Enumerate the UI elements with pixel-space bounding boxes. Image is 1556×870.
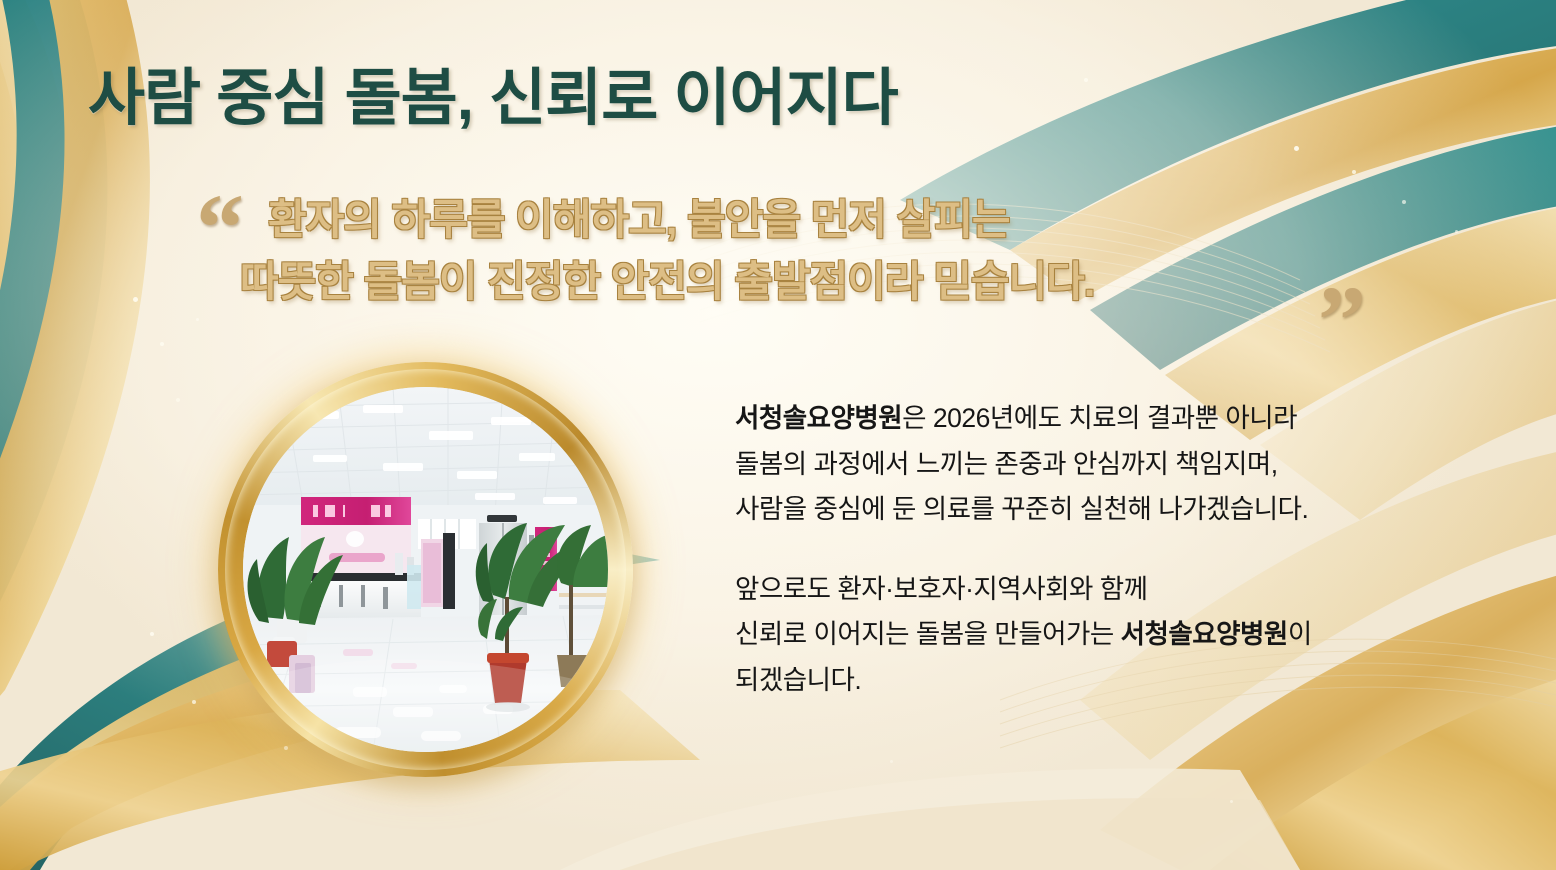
hospital-name-strong: 서청솔요양병원 <box>735 403 902 433</box>
promotional-banner: 사람 중심 돌봄, 신뢰로 이어지다 “ 환자의 하루를 이해하고, 불안을 먼… <box>0 0 1556 870</box>
page-title: 사람 중심 돌봄, 신뢰로 이어지다 <box>88 66 1088 131</box>
body-copy: 서청솔요양병원은 2026년에도 치료의 결과뿐 아니라 돌봄의 과정에서 느끼… <box>735 396 1495 703</box>
paragraph2-line2: 신뢰로 이어지는 돌봄을 만들어가는 서청솔요양병원이 <box>735 612 1495 658</box>
quote-line-2: 따뜻한 돌봄이 진정한 안전의 출발점이라 믿습니다. <box>240 252 1094 312</box>
paragraph1-line1: 서청솔요양병원은 2026년에도 치료의 결과뿐 아니라 <box>735 396 1495 442</box>
paragraph1-line1-rest: 은 2026년에도 치료의 결과뿐 아니라 <box>902 403 1297 433</box>
paragraph2-line2-pre: 신뢰로 이어지는 돌봄을 만들어가는 <box>735 619 1121 649</box>
paragraph1-line3: 사람을 중심에 둔 의료를 꾸준히 실천해 나가겠습니다. <box>735 487 1495 533</box>
paragraph2-line2-post: 이 <box>1288 619 1312 649</box>
paragraph1-line2: 돌봄의 과정에서 느끼는 존중과 안심까지 책임지며, <box>735 442 1495 488</box>
paragraph2-line1: 앞으로도 환자·보호자·지역사회와 함께 <box>735 567 1495 613</box>
hospital-lobby-photo <box>243 387 608 752</box>
quote-line-1: 환자의 하루를 이해하고, 불안을 먼저 살피는 <box>268 190 1010 250</box>
photo-gold-ring <box>218 362 633 777</box>
hospital-name-strong-2: 서청솔요양병원 <box>1121 619 1288 649</box>
paragraph-spacer <box>735 533 1495 567</box>
paragraph2-line3: 되겠습니다. <box>735 658 1495 704</box>
